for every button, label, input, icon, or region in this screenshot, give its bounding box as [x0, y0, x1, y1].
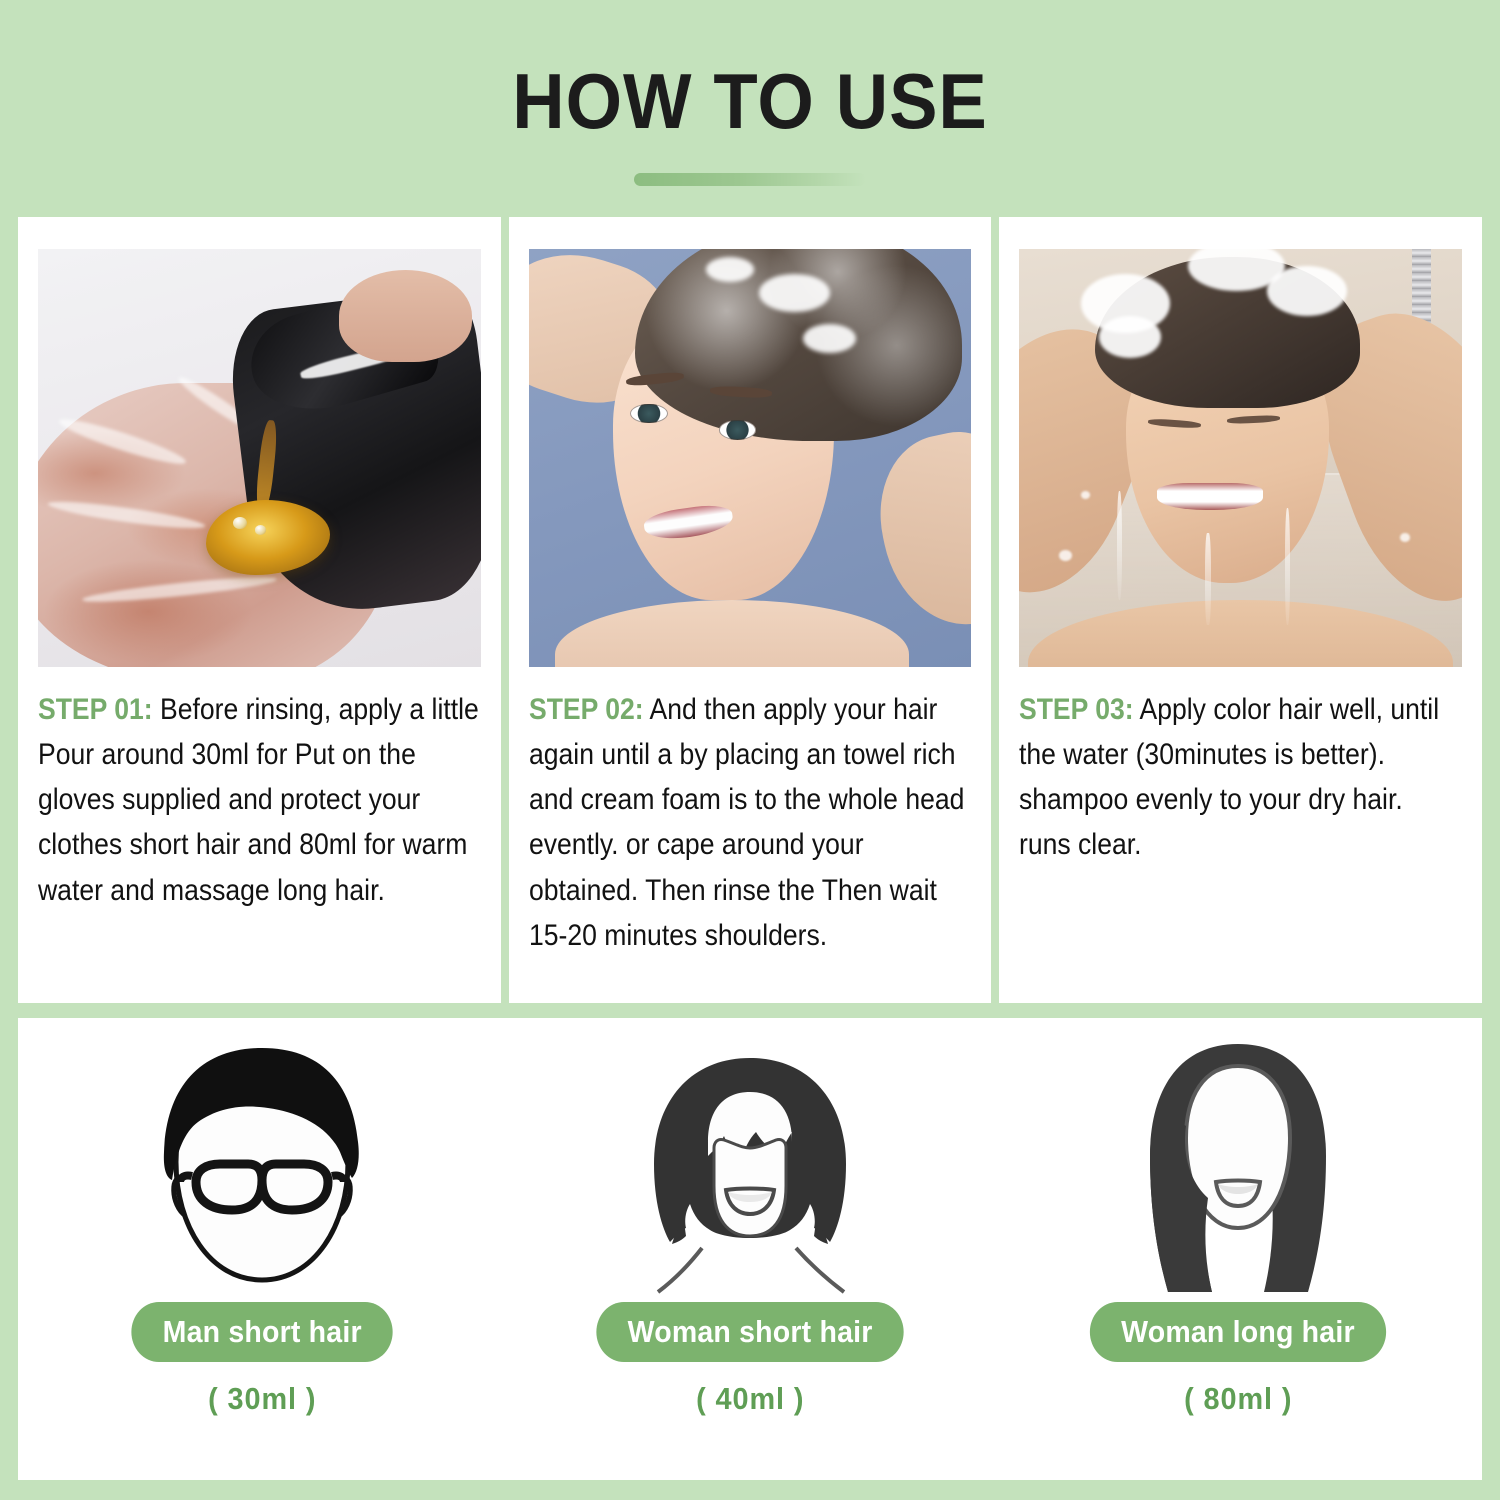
- step-02-label: STEP 02:: [529, 693, 644, 726]
- woman-long-hair-icon: [1112, 1030, 1364, 1298]
- step-03-label: STEP 03:: [1019, 693, 1134, 726]
- step-02-photo: [529, 249, 972, 667]
- smiling-mouth: [1157, 483, 1263, 510]
- dosage-label-woman-long-hair: Woman long hair: [1090, 1302, 1386, 1362]
- step-card-01: STEP 01: Before rinsing, apply a little …: [18, 217, 501, 1003]
- step-01-photo: [38, 249, 481, 667]
- water-stream: [1117, 491, 1122, 600]
- eye-right: [719, 420, 756, 440]
- man-short-hair-icon: [136, 1030, 388, 1298]
- dosage-label-woman-short-hair: Woman short hair: [596, 1302, 903, 1362]
- dosage-label-man-short-hair: Man short hair: [131, 1302, 393, 1362]
- dosage-item-woman-long-hair: Woman long hair ( 80ml ): [994, 1018, 1482, 1480]
- dosage-item-man-short-hair: Man short hair ( 30ml ): [18, 1018, 506, 1480]
- dosage-amount-woman-long-hair: ( 80ml ): [1184, 1381, 1292, 1417]
- lather-blob: [1267, 266, 1347, 316]
- step-03-text: STEP 03: Apply color hair well, until th…: [1019, 687, 1461, 868]
- step-02-text: STEP 02: And then apply your hair again …: [529, 687, 971, 958]
- step-01-label: STEP 01:: [38, 693, 153, 726]
- water-stream: [1205, 533, 1210, 625]
- step-card-03: STEP 03: Apply color hair well, until th…: [999, 217, 1482, 1003]
- liquid-bubble: [233, 517, 247, 530]
- woman-short-hair-icon: [624, 1030, 876, 1298]
- water-droplet: [1400, 533, 1410, 541]
- dosage-amount-man-short-hair: ( 30ml ): [208, 1381, 316, 1417]
- title-underline-accent: [634, 173, 866, 186]
- dosage-item-woman-short-hair: Woman short hair ( 40ml ): [506, 1018, 994, 1480]
- step-03-photo: [1019, 249, 1462, 667]
- lather-blob: [1099, 316, 1161, 358]
- infographic-page: HOW TO USE STEP 01:: [0, 0, 1500, 1500]
- dosage-card: Man short hair ( 30ml ) Woman short hair: [18, 1018, 1482, 1480]
- water-stream: [1285, 508, 1290, 625]
- page-header: HOW TO USE: [0, 62, 1500, 186]
- step-02-body: And then apply your hair again until a b…: [529, 693, 964, 952]
- dosage-amount-woman-short-hair: ( 40ml ): [696, 1381, 804, 1417]
- page-title: HOW TO USE: [53, 62, 1448, 140]
- step-01-text: STEP 01: Before rinsing, apply a little …: [38, 687, 480, 913]
- foam-blob: [759, 274, 830, 312]
- thumb: [339, 270, 472, 362]
- steps-row: STEP 01: Before rinsing, apply a little …: [18, 217, 1482, 1003]
- eye-left: [630, 404, 667, 424]
- step-card-02: STEP 02: And then apply your hair again …: [509, 217, 992, 1003]
